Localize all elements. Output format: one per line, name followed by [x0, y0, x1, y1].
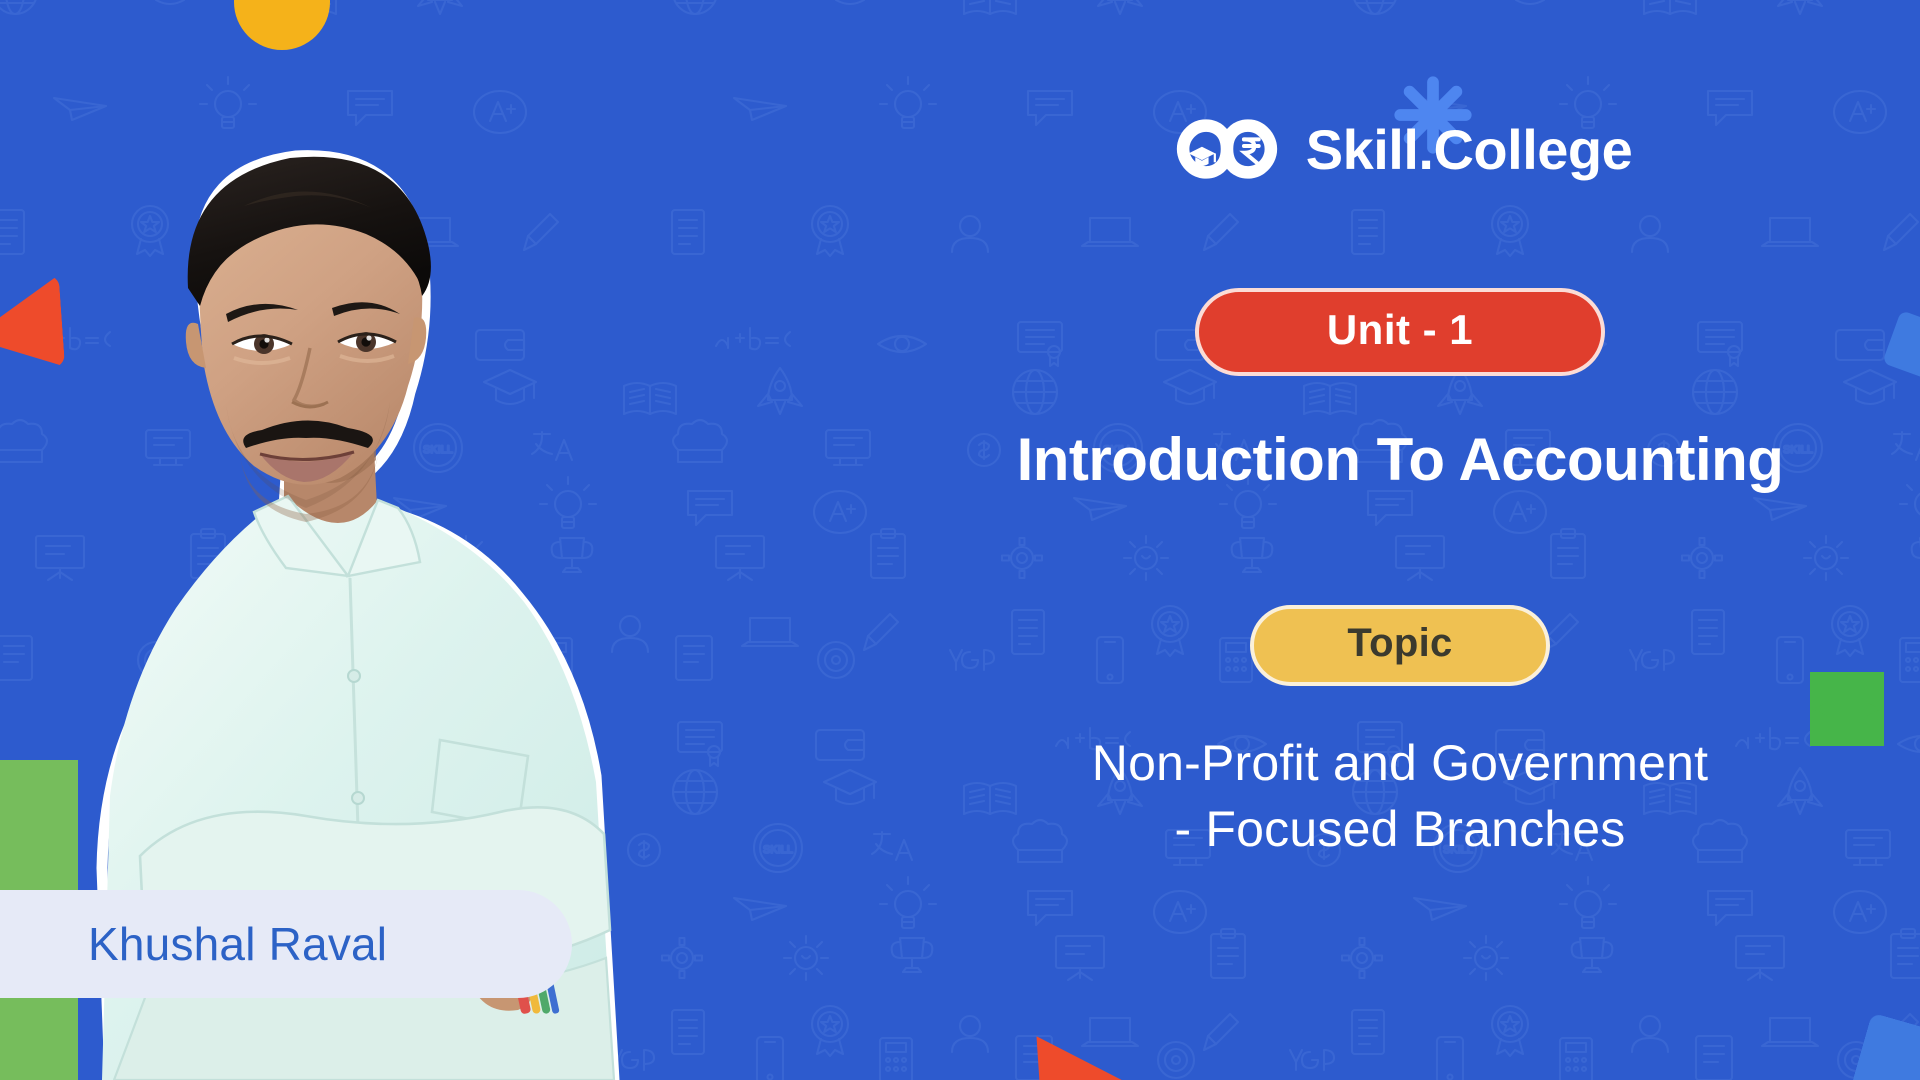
topic-title: Non-Profit and Government - Focused Bran…	[1092, 730, 1708, 862]
unit-badge[interactable]: Unit - 1	[1195, 288, 1605, 376]
topic-badge-label: Topic	[1347, 621, 1452, 665]
course-title: Introduction To Accounting	[1017, 426, 1784, 493]
brand-logo[interactable]: Skill.College	[1168, 112, 1633, 186]
course-thumbnail-slide: SKILL	[0, 0, 1920, 1080]
yellow-circle-decoration	[234, 0, 330, 50]
instructor-name: Khushal Raval	[88, 917, 387, 971]
topic-badge[interactable]: Topic	[1250, 605, 1550, 686]
unit-badge-label: Unit - 1	[1327, 306, 1473, 353]
topic-title-line-2: - Focused Branches	[1092, 796, 1708, 862]
instructor-name-bar: Khushal Raval	[0, 890, 572, 998]
topic-title-line-1: Non-Profit and Government	[1092, 730, 1708, 796]
brand-name: Skill.College	[1306, 117, 1633, 182]
infinity-graduation-cap-rupee-icon	[1168, 112, 1286, 186]
slide-content-column: Skill.College Unit - 1 Introduction To A…	[880, 0, 1920, 1080]
